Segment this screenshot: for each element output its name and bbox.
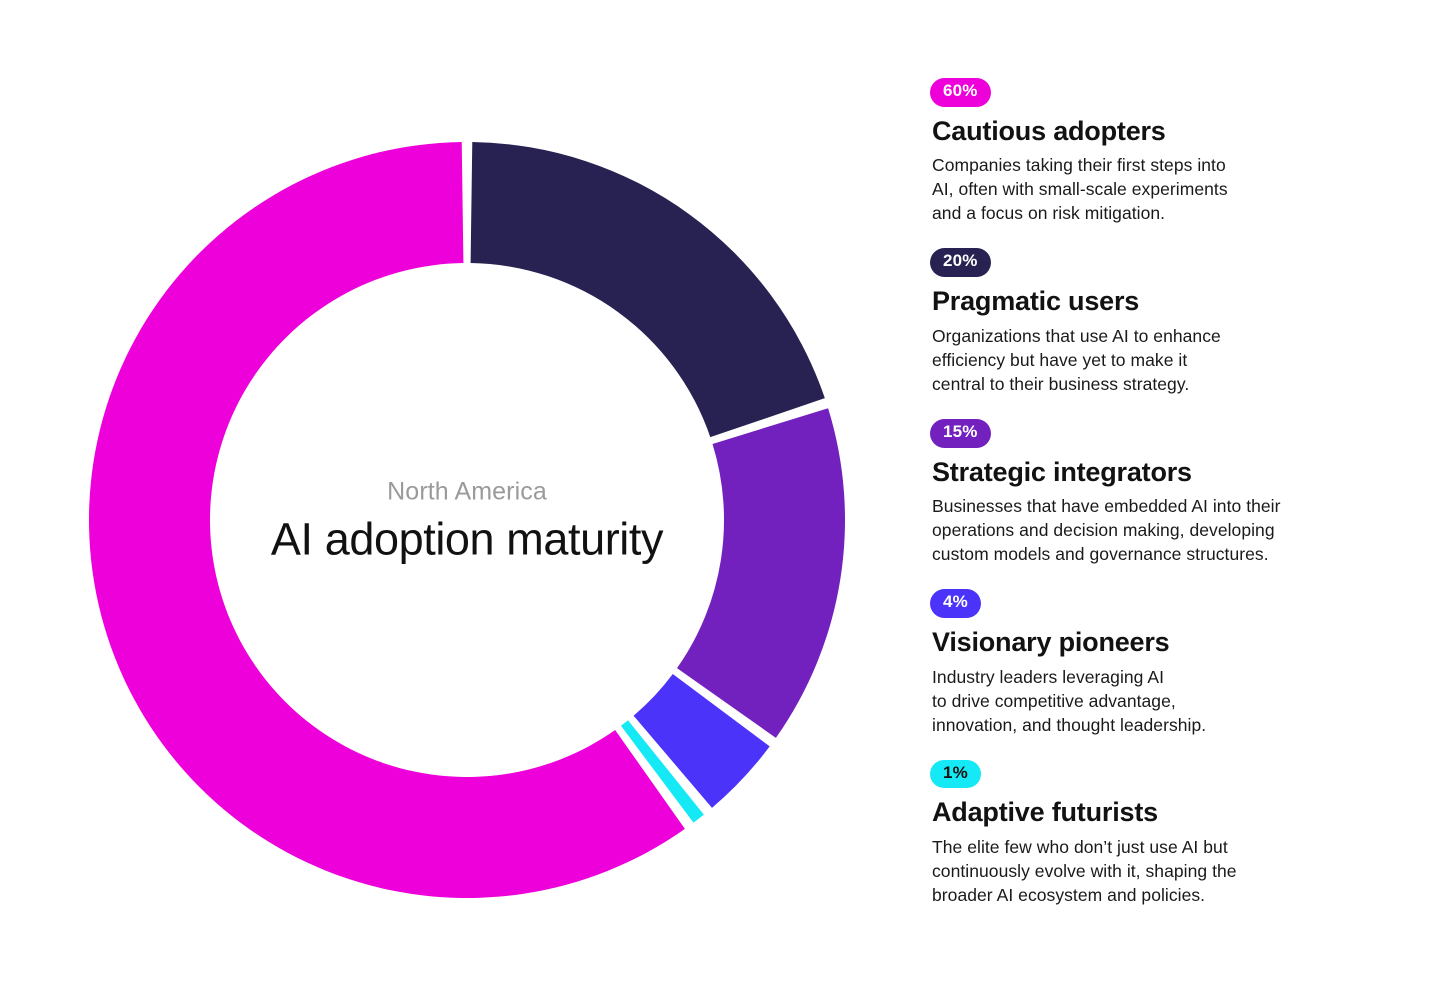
- legend-item-title: Pragmatic users: [932, 285, 1390, 319]
- legend-percent-badge: 20%: [930, 248, 991, 277]
- legend-percent-badge: 15%: [930, 419, 991, 448]
- donut-slice-group: [89, 142, 845, 898]
- legend-item-title: Strategic integrators: [932, 456, 1390, 490]
- donut-slice[interactable]: [677, 408, 845, 738]
- legend-item-description: The elite few who don’t just use AI but …: [932, 836, 1390, 908]
- legend-item-description: Organizations that use AI to enhance eff…: [932, 325, 1390, 397]
- legend-item[interactable]: 15%Strategic integratorsBusinesses that …: [930, 419, 1390, 567]
- legend-item-title: Cautious adopters: [932, 115, 1390, 149]
- legend-item[interactable]: 60%Cautious adoptersCompanies taking the…: [930, 78, 1390, 226]
- legend-item[interactable]: 1%Adaptive futuristsThe elite few who do…: [930, 760, 1390, 908]
- legend-item-title: Adaptive futurists: [932, 796, 1390, 830]
- legend-percent-badge: 60%: [930, 78, 991, 107]
- donut-slice[interactable]: [471, 142, 825, 437]
- donut-chart-svg: [0, 0, 900, 1008]
- legend-list: 60%Cautious adoptersCompanies taking the…: [930, 78, 1390, 908]
- legend-percent-badge: 4%: [930, 589, 981, 618]
- legend-item[interactable]: 20%Pragmatic usersOrganizations that use…: [930, 248, 1390, 396]
- donut-chart-area: North America AI adoption maturity: [0, 0, 900, 1008]
- legend-item-description: Businesses that have embedded AI into th…: [932, 495, 1390, 567]
- legend-item-description: Companies taking their first steps into …: [932, 154, 1390, 226]
- legend-percent-badge: 1%: [930, 760, 981, 789]
- legend-item[interactable]: 4%Visionary pioneersIndustry leaders lev…: [930, 589, 1390, 737]
- legend-item-description: Industry leaders leveraging AI to drive …: [932, 666, 1390, 738]
- legend-item-title: Visionary pioneers: [932, 626, 1390, 660]
